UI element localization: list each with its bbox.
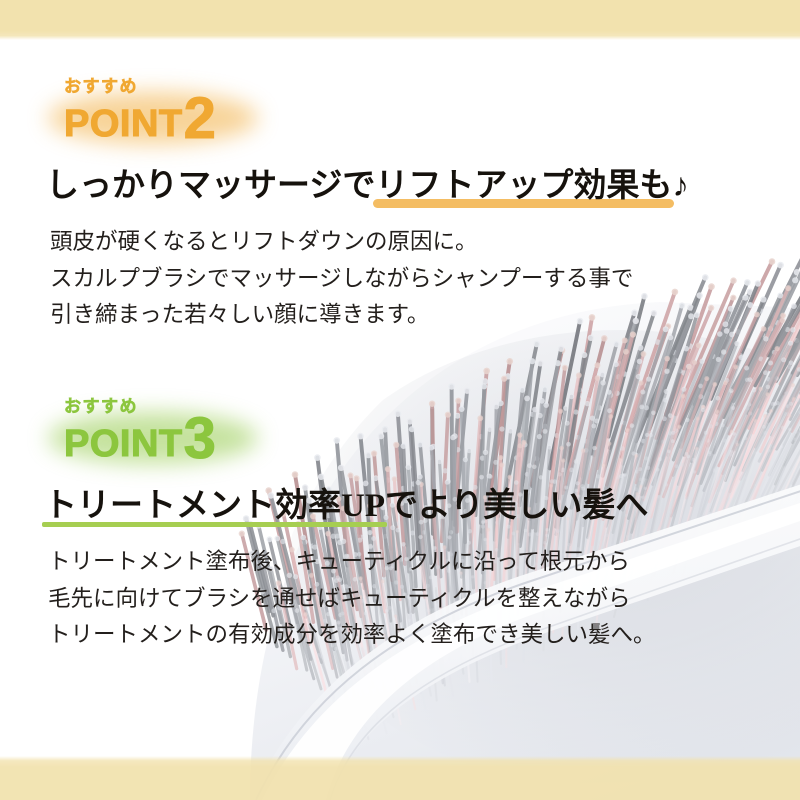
point-3-headline: トリートメント効率UPでより美しい髪へ [44, 487, 656, 526]
point-2-headline-suffix: ♪ [672, 168, 689, 204]
point-2-headline-prefix: しっかりマッサージで [46, 168, 375, 204]
point-block-2: おすすめ POINT 2 しっかりマッサージでリフトアップ効果も♪ 頭皮が硬くな… [26, 78, 689, 333]
point-3-body-line-3: トリートメントの有効成分を効率よく塗布でき美しい髪へ。 [48, 617, 656, 653]
point-3-badge: おすすめ POINT 3 [26, 398, 656, 461]
point-3-number: 3 [184, 416, 216, 461]
point-3-body: トリートメント塗布後、キューティクルに沿って根元から 毛先に向けてブラシを通せば… [48, 544, 656, 653]
point-3-word: POINT [64, 428, 183, 461]
point-3-headline-highlight: トリートメント効率UP [44, 487, 385, 526]
point-3-body-line-2: 毛先に向けてブラシを通せばキューティクルを整えながら [48, 581, 656, 617]
point-2-badge: おすすめ POINT 2 [26, 78, 689, 141]
point-2-headline-highlight: リフトアップ効果も [375, 167, 672, 206]
promo-page: おすすめ POINT 2 しっかりマッサージでリフトアップ効果も♪ 頭皮が硬くな… [0, 0, 800, 800]
point-2-word: POINT [64, 108, 183, 141]
point-2-body-line-2: スカルプブラシでマッサージしながらシャンプーする事で [50, 261, 689, 297]
point-2-headline: しっかりマッサージでリフトアップ効果も♪ [46, 167, 689, 206]
point-2-title-row: POINT 2 [64, 96, 689, 141]
point-2-body: 頭皮が硬くなるとリフトダウンの原因に。 スカルプブラシでマッサージしながらシャン… [50, 224, 689, 333]
point-2-number: 2 [184, 96, 216, 141]
top-decorative-band [0, 0, 800, 40]
point-2-body-line-1: 頭皮が硬くなるとリフトダウンの原因に。 [50, 224, 689, 260]
point-block-3: おすすめ POINT 3 トリートメント効率UPでより美しい髪へ トリートメント… [26, 398, 656, 653]
point-3-headline-suffix: でより美しい髪へ [385, 488, 648, 524]
bottom-decorative-band [0, 756, 800, 800]
point-2-body-line-3: 引き締まった若々しい顔に導きます。 [50, 297, 689, 333]
point-3-recommend-label: おすすめ [64, 398, 656, 415]
point-3-body-line-1: トリートメント塗布後、キューティクルに沿って根元から [48, 544, 656, 580]
point-3-title-row: POINT 3 [64, 416, 656, 461]
point-2-recommend-label: おすすめ [64, 78, 689, 95]
